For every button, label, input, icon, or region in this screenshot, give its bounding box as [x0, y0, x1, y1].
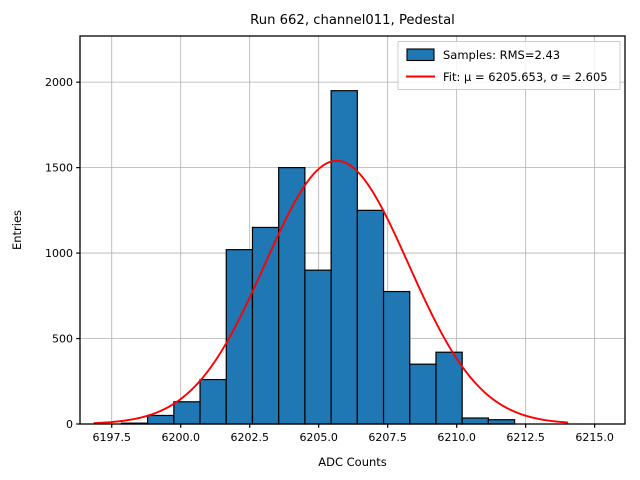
- histogram-bar: [462, 418, 488, 424]
- y-tick-label: 2000: [45, 76, 73, 89]
- histogram-bar: [410, 364, 436, 424]
- legend-label-fit: Fit: μ = 6205.653, σ = 2.605: [443, 70, 608, 84]
- histogram-chart: 6197.56200.06202.56205.06207.56210.06212…: [0, 0, 640, 480]
- y-tick-label: 1500: [45, 162, 73, 175]
- histogram-bar: [436, 352, 462, 424]
- histogram-bar: [200, 380, 226, 424]
- x-axis-tick-labels: 6197.56200.06202.56205.06207.56210.06212…: [92, 431, 613, 444]
- y-axis-label: Entries: [10, 210, 24, 250]
- figure-canvas: 6197.56200.06202.56205.06207.56210.06212…: [0, 0, 640, 480]
- histogram-bar: [384, 292, 410, 424]
- y-tick-label: 1000: [45, 247, 73, 260]
- histogram-bar: [305, 270, 331, 424]
- x-tick-label: 6205.0: [299, 431, 338, 444]
- histogram-bar: [331, 91, 357, 424]
- x-axis-label: ADC Counts: [318, 455, 387, 469]
- x-tick-label: 6197.5: [92, 431, 131, 444]
- y-tick-label: 500: [52, 333, 73, 346]
- histogram-bar: [148, 415, 174, 424]
- x-tick-label: 6210.0: [437, 431, 476, 444]
- x-tick-label: 6215.0: [575, 431, 614, 444]
- y-axis-tick-labels: 0500100015002000: [45, 76, 73, 431]
- x-tick-label: 6202.5: [230, 431, 269, 444]
- y-tick-label: 0: [66, 418, 73, 431]
- legend-item-samples: Samples: RMS=2.43: [407, 48, 560, 62]
- legend-label-samples: Samples: RMS=2.43: [443, 48, 560, 62]
- histogram-bar: [252, 227, 278, 424]
- x-tick-label: 6200.0: [161, 431, 200, 444]
- chart-title: Run 662, channel011, Pedestal: [250, 13, 455, 28]
- x-tick-label: 6207.5: [368, 431, 407, 444]
- histogram-bar: [174, 402, 200, 424]
- histogram-bar: [357, 210, 383, 424]
- legend-swatch-samples: [407, 49, 434, 61]
- chart-legend: Samples: RMS=2.43 Fit: μ = 6205.653, σ =…: [398, 42, 620, 90]
- x-tick-label: 6212.5: [506, 431, 545, 444]
